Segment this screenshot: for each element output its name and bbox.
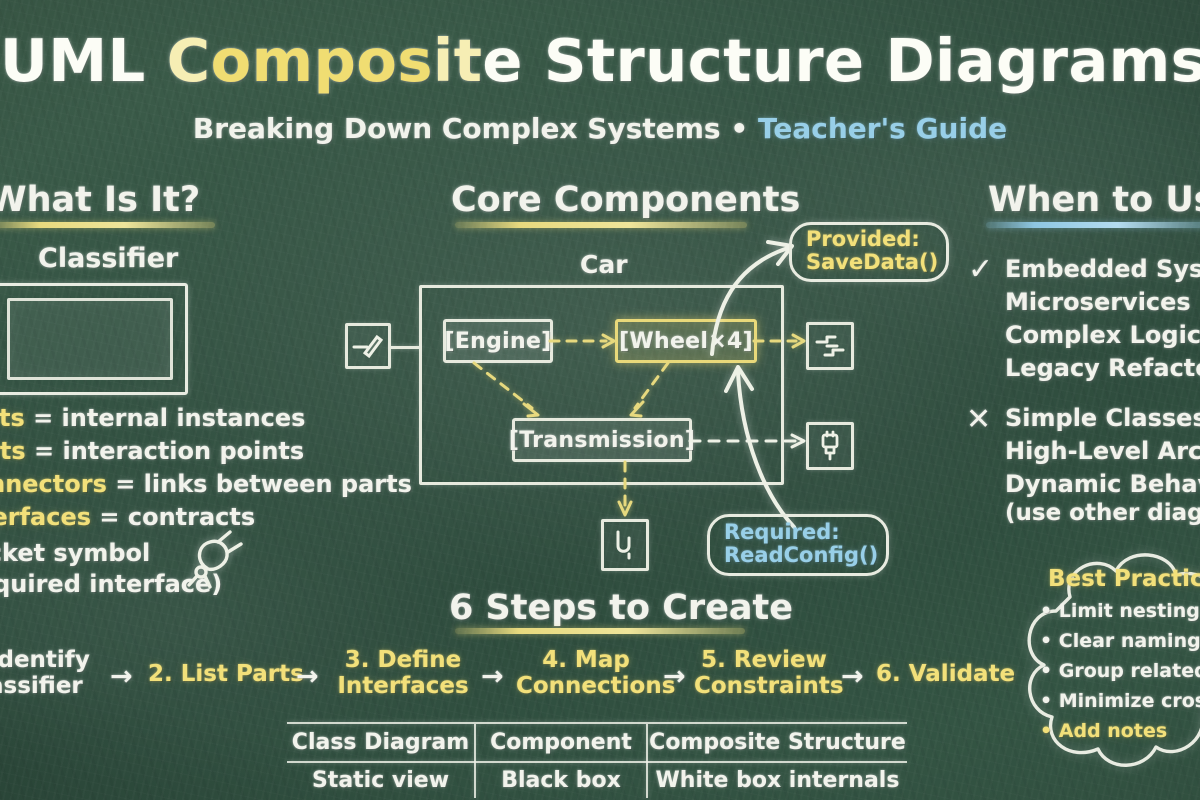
step-2-line1: 2. List Parts — [148, 662, 283, 688]
bad-item-1: High-Level Architecture — [1005, 437, 1200, 465]
step-4-line2: Connections — [516, 674, 656, 700]
definition-term-ports: Ports — [0, 437, 26, 465]
step-arrow-3: → — [481, 661, 504, 692]
page-subtitle: Breaking Down Complex Systems • Teacher'… — [0, 112, 1200, 145]
table-value-1: Black box — [476, 768, 646, 793]
step-2[interactable]: 2. List Parts — [148, 662, 283, 688]
step-6[interactable]: 6. Validate — [876, 662, 1006, 688]
classifier-label: Classifier — [38, 243, 178, 274]
right-heading-underline — [986, 222, 1200, 228]
definition-term-connectors: Connectors — [0, 470, 107, 498]
classifier-outer-box — [0, 283, 188, 395]
step-1[interactable]: 1. Identify Classifier — [0, 648, 98, 700]
bad-item-3: (use other diagrams) — [1005, 500, 1200, 526]
title-part-2: C — [167, 26, 211, 95]
required-line2: ReadConfig() — [724, 544, 878, 567]
connector-port-icon — [813, 332, 847, 360]
left-heading-underline — [0, 222, 215, 228]
socket-note-line1: Socket symbol — [0, 539, 150, 567]
part-engine[interactable]: [Engine] — [443, 319, 553, 363]
definition-parts: Parts = internal instances — [0, 404, 305, 432]
title-part-3: ompos — [211, 26, 433, 95]
step-arrow-2: → — [296, 661, 319, 692]
best-practice-item-2: • Group related parts — [1040, 660, 1200, 682]
definition-term-parts: Parts — [0, 404, 25, 432]
center-section-heading: Core Components — [451, 180, 800, 220]
step-5-line1: 5. Review — [694, 648, 834, 674]
step-6-line1: 6. Validate — [876, 662, 1006, 688]
connector-engine-to-transmission — [470, 360, 580, 426]
step-arrow-5: → — [841, 661, 864, 692]
good-item-1: Microservices — [1005, 288, 1191, 316]
plug-icon — [186, 528, 246, 590]
port-left-pencil[interactable] — [345, 323, 391, 369]
step-4[interactable]: 4. Map Connections — [516, 648, 656, 700]
required-interface-bubble[interactable]: Required: ReadConfig() — [707, 514, 889, 576]
table-value-2: White box internals — [648, 768, 907, 793]
table-header-2: Composite Structure — [648, 730, 907, 755]
definition-ports: Ports = interaction points — [0, 437, 304, 465]
provided-line1: Provided: — [806, 228, 938, 251]
port-bottom[interactable] — [601, 519, 649, 571]
table-mid-rule — [287, 761, 907, 763]
subtitle-main: Breaking Down Complex Systems • — [193, 112, 758, 145]
table-header-0: Class Diagram — [287, 730, 474, 755]
hook-port-icon — [610, 528, 640, 562]
classifier-inner-box — [7, 298, 173, 380]
arrow-to-required-bubble — [686, 365, 816, 535]
definition-connectors: Connectors = links between parts — [0, 470, 412, 498]
step-5-line2: Constraints — [694, 674, 834, 700]
table-top-rule — [287, 722, 907, 724]
connector-transmission-to-bottom-port — [610, 460, 640, 522]
classifier-name-car: Car — [580, 250, 628, 279]
left-section-heading: What Is It? — [0, 180, 200, 220]
table-header-1: Component — [476, 730, 646, 755]
best-practice-item-4: • Add notes — [1040, 720, 1167, 742]
good-item-3: Legacy Refactoring — [1005, 354, 1200, 382]
definition-text-connectors: = links between parts — [107, 470, 412, 498]
part-transmission-label: [Transmission] — [509, 428, 695, 453]
bad-item-0: Simple Classes — [1005, 404, 1200, 432]
definition-text-parts: = internal instances — [25, 404, 306, 432]
connector-left-stub — [389, 346, 421, 349]
definition-interfaces: Interfaces = contracts — [0, 503, 255, 531]
check-mark-icon: ✓ — [968, 252, 993, 287]
step-4-line1: 4. Map — [516, 648, 656, 674]
subtitle-accent: Teacher's Guide — [758, 112, 1007, 145]
title-part-4: it — [433, 26, 482, 95]
provided-interface-bubble[interactable]: Provided: SaveData() — [789, 222, 949, 282]
title-part-1: UML — [0, 26, 167, 95]
step-arrow-1: → — [110, 661, 133, 692]
plug-port-icon — [814, 429, 846, 463]
right-section-heading: When to Use — [988, 180, 1200, 220]
best-practice-item-0: • Limit nesting depth — [1040, 600, 1200, 622]
definition-term-interfaces: Interfaces — [0, 503, 91, 531]
steps-section-heading: 6 Steps to Create — [449, 588, 793, 628]
step-1-line1: 1. Identify — [0, 648, 98, 674]
best-practice-item-1: • Clear naming — [1040, 630, 1200, 652]
step-1-line2: Classifier — [0, 674, 98, 700]
step-3-line1: 3. Define — [334, 648, 472, 674]
page-title: UML Composite Structure Diagrams — [0, 26, 1200, 95]
step-5[interactable]: 5. Review Constraints — [694, 648, 834, 700]
best-practices-title: Best Practices — [1048, 566, 1200, 592]
part-engine-label: [Engine] — [444, 329, 551, 354]
port-right-top[interactable] — [806, 322, 854, 370]
definition-text-interfaces: = contracts — [91, 503, 255, 531]
step-3[interactable]: 3. Define Interfaces — [334, 648, 472, 700]
bad-item-2: Dynamic Behavior — [1005, 470, 1200, 498]
title-part-5: e Structure Diagrams — [482, 26, 1200, 95]
good-item-0: Embedded Systems — [1005, 255, 1200, 283]
provided-line2: SaveData() — [806, 251, 938, 274]
pencil-port-icon — [351, 331, 385, 361]
connector-engine-to-wheel — [548, 328, 624, 354]
step-arrow-4: → — [663, 661, 686, 692]
connector-wheel-to-transmission — [598, 360, 688, 426]
best-practice-item-3: • Minimize crossings — [1040, 690, 1200, 712]
step-3-line2: Interfaces — [334, 674, 472, 700]
required-line1: Required: — [724, 521, 878, 544]
table-value-0: Static view — [287, 768, 474, 793]
cross-mark-icon: ✕ — [966, 402, 991, 437]
steps-heading-underline — [455, 628, 745, 634]
definition-text-ports: = interaction points — [26, 437, 305, 465]
good-item-2: Complex Logic — [1005, 321, 1200, 349]
